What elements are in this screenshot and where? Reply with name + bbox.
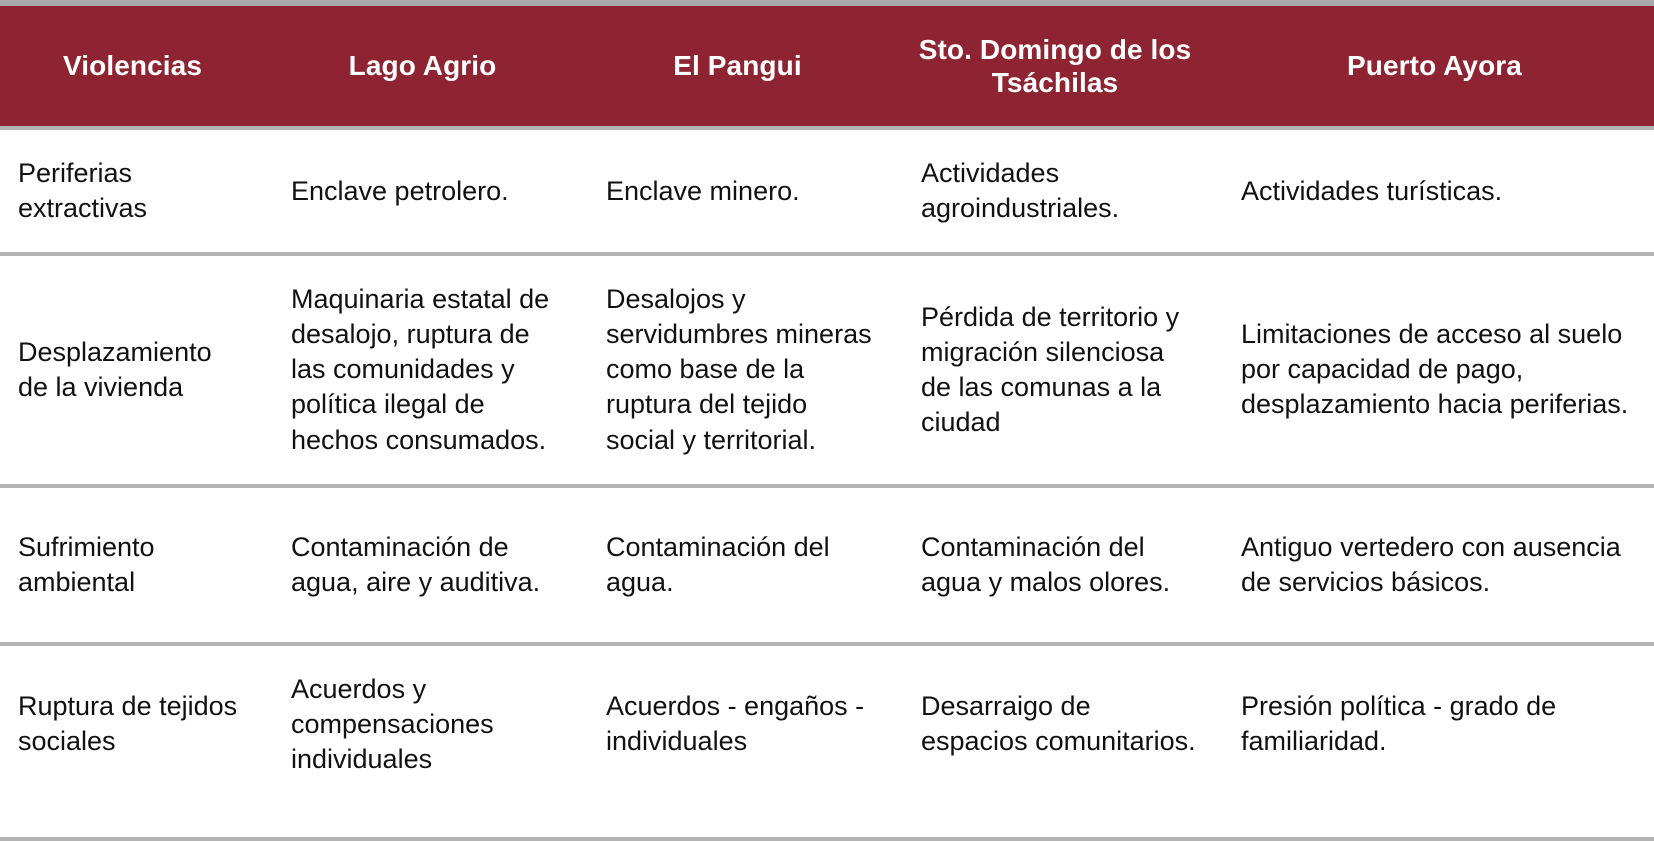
cell-puerto-ayora: Antiguo vertedero con ausencia de servic… bbox=[1215, 486, 1654, 644]
cell-el-pangui: Contaminación del agua. bbox=[580, 486, 895, 644]
cell-el-pangui: Enclave minero. bbox=[580, 128, 895, 254]
column-header-violencias: Violencias bbox=[0, 6, 265, 128]
table-body: Periferias extractivas Enclave petrolero… bbox=[0, 128, 1654, 839]
cell-puerto-ayora: Presión política - grado de familiaridad… bbox=[1215, 644, 1654, 839]
cell-violencia: Ruptura de tejidos sociales bbox=[0, 644, 265, 839]
cell-violencia: Desplazamiento de la vivienda bbox=[0, 254, 265, 485]
cell-lago-agrio: Contaminación de agua, aire y auditiva. bbox=[265, 486, 580, 644]
cell-lago-agrio: Acuerdos y compensaciones individuales bbox=[265, 644, 580, 839]
table-row: Sufrimiento ambiental Contaminación de a… bbox=[0, 486, 1654, 644]
cell-violencia: Sufrimiento ambiental bbox=[0, 486, 265, 644]
cell-sto-domingo: Actividades agroindustriales. bbox=[895, 128, 1215, 254]
cell-sto-domingo: Contaminación del agua y malos olores. bbox=[895, 486, 1215, 644]
table-row: Ruptura de tejidos sociales Acuerdos y c… bbox=[0, 644, 1654, 839]
cell-sto-domingo: Desarraigo de espacios comunitarios. bbox=[895, 644, 1215, 839]
column-header-puerto-ayora: Puerto Ayora bbox=[1215, 6, 1654, 128]
table-header: Violencias Lago Agrio El Pangui Sto. Dom… bbox=[0, 6, 1654, 128]
cell-violencia: Periferias extractivas bbox=[0, 128, 265, 254]
cell-puerto-ayora: Limitaciones de acceso al suelo por capa… bbox=[1215, 254, 1654, 485]
cell-el-pangui: Desalojos y servidumbres mineras como ba… bbox=[580, 254, 895, 485]
cell-puerto-ayora: Actividades turísticas. bbox=[1215, 128, 1654, 254]
cell-el-pangui: Acuerdos - engaños - individuales bbox=[580, 644, 895, 839]
column-header-el-pangui: El Pangui bbox=[580, 6, 895, 128]
cell-lago-agrio: Maquinaria estatal de desalojo, ruptura … bbox=[265, 254, 580, 485]
header-row: Violencias Lago Agrio El Pangui Sto. Dom… bbox=[0, 6, 1654, 128]
column-header-lago-agrio: Lago Agrio bbox=[265, 6, 580, 128]
table-row: Periferias extractivas Enclave petrolero… bbox=[0, 128, 1654, 254]
table-row: Desplazamiento de la vivienda Maquinaria… bbox=[0, 254, 1654, 485]
table-container: Violencias Lago Agrio El Pangui Sto. Dom… bbox=[0, 0, 1654, 811]
violencias-comparison-table: Violencias Lago Agrio El Pangui Sto. Dom… bbox=[0, 6, 1654, 841]
cell-sto-domingo: Pérdida de territorio y migración silenc… bbox=[895, 254, 1215, 485]
column-header-sto-domingo: Sto. Domingo de los Tsáchilas bbox=[895, 6, 1215, 128]
cell-lago-agrio: Enclave petrolero. bbox=[265, 128, 580, 254]
